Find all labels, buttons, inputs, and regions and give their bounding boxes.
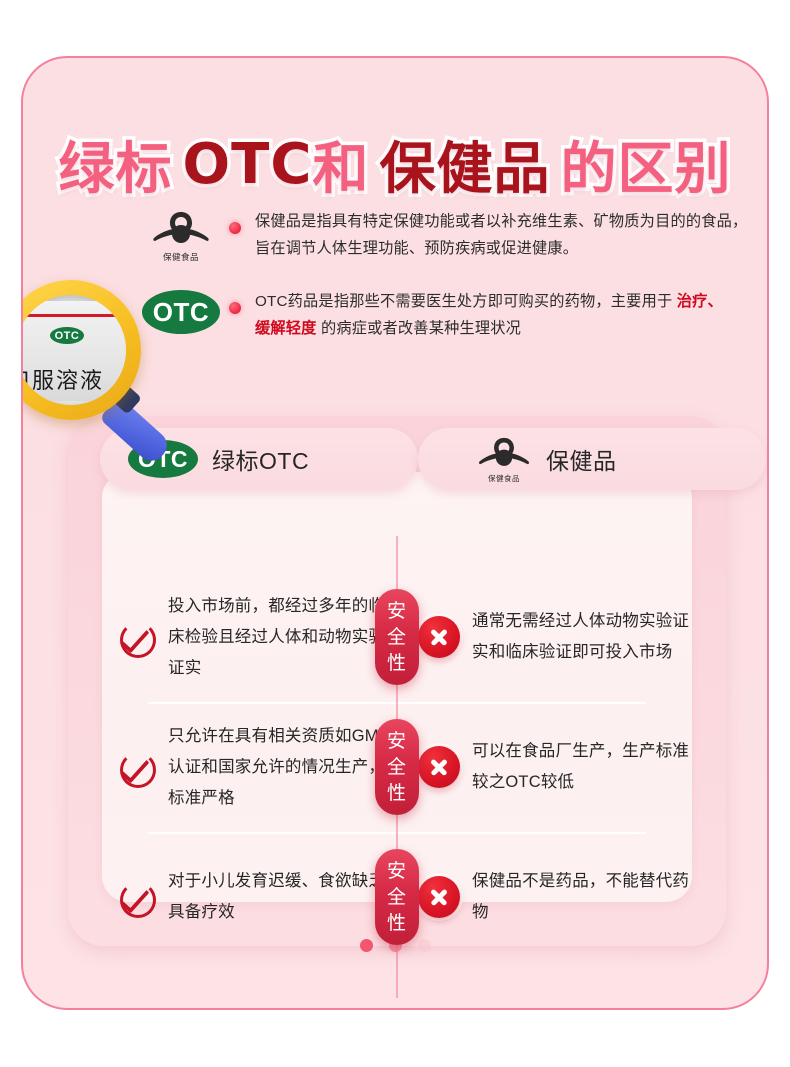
column-header-healthfood: 保健食品 保健品 xyxy=(418,428,766,490)
row-1-right-cell: 通常无需经过人体动物实验证实和临床验证即可投入市场 xyxy=(392,606,692,668)
row-3-left-cell: 对于小儿发育迟缓、食欲缺乏具备疗效 xyxy=(102,866,392,928)
title-segment-1: 绿标 xyxy=(59,124,173,205)
intro-line-2: 旨在调节人体生理功能、预防疾病或促进健康。 xyxy=(255,240,578,257)
intro-row-otc: OTC OTC药品是指那些不需要医生处方即可购买的药物，主要用于 治疗、 缓解轻… xyxy=(133,288,769,342)
title-segment-4: 保健品 xyxy=(379,124,550,205)
row-2-right-cell: 可以在食品厂生产，生产标准较之OTC较低 xyxy=(392,736,692,798)
medicine-box-otc-icon: OTC xyxy=(50,327,84,344)
health-food-logo-icon: 保健食品 xyxy=(150,210,212,262)
magnifier-ring: OTC 口服溶液 xyxy=(21,280,141,420)
health-food-badge-slot: 保健食品 xyxy=(133,208,229,262)
intro-otc-highlight-2: 缓解轻度 xyxy=(255,320,317,337)
column-header-healthfood-label: 保健品 xyxy=(546,442,617,476)
safety-char-2: 全 xyxy=(387,624,407,650)
page-title: 绿标OTC和保健品的区别 xyxy=(23,124,767,205)
intro-otc-line2: 的病症或者改善某种生理状况 xyxy=(317,320,521,337)
health-food-badge-caption: 保健食品 xyxy=(476,473,532,484)
title-segment-2: OTC xyxy=(183,132,313,197)
row-1-right-text: 通常无需经过人体动物实验证实和临床验证即可投入市场 xyxy=(472,606,692,668)
intro-text-otc: OTC药品是指那些不需要医生处方即可购买的药物，主要用于 治疗、 缓解轻度 的病… xyxy=(255,288,723,342)
row-3-left-text: 对于小儿发育迟缓、食欲缺乏具备疗效 xyxy=(168,866,392,928)
check-icon xyxy=(118,618,156,656)
pagination-dot-1[interactable] xyxy=(360,939,373,952)
medicine-box-image: OTC 口服溶液 xyxy=(21,301,126,401)
safety-badge: 安 全 性 xyxy=(375,719,419,815)
safety-char-1: 安 xyxy=(387,858,407,884)
comparison-panel: 投入市场前，都经过多年的临床检验且经过人体和动物实验证实 通常无需经过人体动物实… xyxy=(102,472,692,902)
title-segment-5: 的区别 xyxy=(560,124,731,205)
medicine-box-text: 口服溶液 xyxy=(21,363,104,395)
row-2-left-text: 只允许在具有相关资质如GMP认证和国家允许的情况生产，标准严格 xyxy=(168,721,392,814)
comparison-rows: 投入市场前，都经过多年的临床检验且经过人体和动物实验证实 通常无需经过人体动物实… xyxy=(102,572,692,962)
safety-char-3: 性 xyxy=(387,650,407,676)
check-icon xyxy=(118,878,156,916)
x-icon xyxy=(418,876,460,918)
medicine-box-stripe xyxy=(21,314,126,317)
bullet-dot-icon xyxy=(229,222,241,234)
intro-line-1: 保健品是指具有特定保健功能或者以补充维生素、矿物质为目的的食品， xyxy=(255,213,747,230)
row-3-right-text: 保健品不是药品，不能替代药物 xyxy=(472,866,692,928)
column-header-otc-label: 绿标OTC xyxy=(212,442,309,476)
intro-text-health-food: 保健品是指具有特定保健功能或者以补充维生素、矿物质为目的的食品， 旨在调节人体生… xyxy=(255,208,747,262)
x-icon xyxy=(418,616,460,658)
title-segment-3: 和 xyxy=(312,124,369,205)
row-2-left-cell: 只允许在具有相关资质如GMP认证和国家允许的情况生产，标准严格 xyxy=(102,721,392,814)
row-1-left-cell: 投入市场前，都经过多年的临床检验且经过人体和动物实验证实 xyxy=(102,591,392,684)
safety-badge: 安 全 性 xyxy=(375,849,419,945)
safety-char-1: 安 xyxy=(387,728,407,754)
bullet-dot-icon xyxy=(229,302,241,314)
x-icon xyxy=(418,746,460,788)
intro-otc-highlight-1: 治疗、 xyxy=(677,293,723,310)
magnifier-illustration: OTC 口服溶液 xyxy=(21,280,201,470)
safety-char-1: 安 xyxy=(387,598,407,624)
comparison-card: OTC 绿标OTC 保健食品 保健品 投入市场前，都经过多年的临 xyxy=(68,416,726,946)
intro-row-health-food: 保健食品 保健品是指具有特定保健功能或者以补充维生素、矿物质为目的的食品， 旨在… xyxy=(133,208,769,262)
safety-char-2: 全 xyxy=(387,884,407,910)
table-row: 只允许在具有相关资质如GMP认证和国家允许的情况生产，标准严格 可以在食品厂生产… xyxy=(102,702,692,832)
safety-char-3: 性 xyxy=(387,910,407,936)
magnifier-lens: OTC 口服溶液 xyxy=(21,295,126,405)
pagination-dot-3[interactable] xyxy=(418,939,431,952)
row-2-right-text: 可以在食品厂生产，生产标准较之OTC较低 xyxy=(472,736,692,798)
intro-otc-line1: OTC药品是指那些不需要医生处方即可购买的药物，主要用于 xyxy=(255,293,677,310)
infographic-frame: 绿标OTC和保健品的区别 保健食品 保健品是指具有特定保健功能或者以补充维生素、… xyxy=(21,56,769,1010)
safety-char-3: 性 xyxy=(387,780,407,806)
safety-char-2: 全 xyxy=(387,754,407,780)
row-3-right-cell: 保健品不是药品，不能替代药物 xyxy=(392,866,692,928)
safety-badge: 安 全 性 xyxy=(375,589,419,685)
table-row: 投入市场前，都经过多年的临床检验且经过人体和动物实验证实 通常无需经过人体动物实… xyxy=(102,572,692,702)
health-food-badge-icon: 保健食品 xyxy=(476,436,532,483)
health-food-logo-caption: 保健食品 xyxy=(150,251,212,263)
row-1-left-text: 投入市场前，都经过多年的临床检验且经过人体和动物实验证实 xyxy=(168,591,392,684)
check-icon xyxy=(118,748,156,786)
